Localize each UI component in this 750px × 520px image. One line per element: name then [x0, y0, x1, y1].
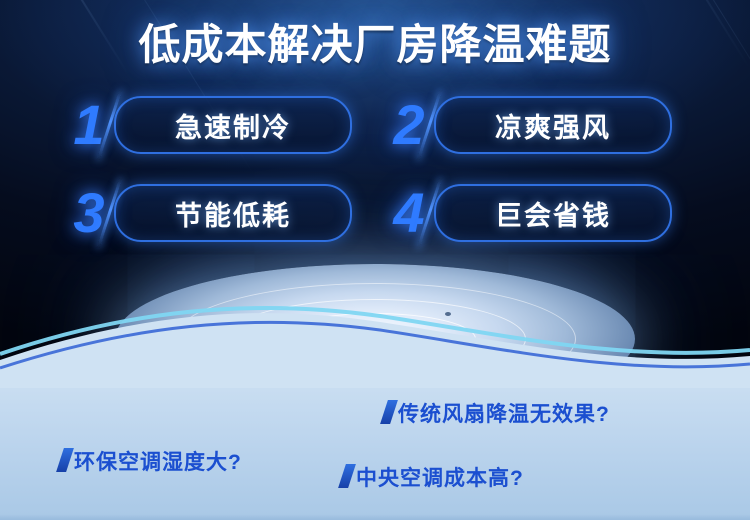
feature-number: 1	[56, 97, 122, 153]
feature-number: 4	[376, 185, 442, 241]
feature-number: 3	[56, 185, 122, 241]
feature-item-1[interactable]: 1 急速制冷	[56, 86, 352, 164]
question-text: 传统风扇降温无效果?	[398, 403, 610, 426]
feature-list: 1 急速制冷 2 凉爽强风 3 节能低耗 4 巨会省钱	[56, 86, 696, 262]
question-text: 中央空调成本高?	[356, 467, 524, 490]
headline: 低成本解决厂房降温难题	[0, 18, 750, 72]
feature-label: 急速制冷	[114, 96, 352, 154]
feature-label: 巨会省钱	[434, 184, 672, 242]
wave-divider-icon	[0, 298, 750, 388]
feature-label: 凉爽强风	[434, 96, 672, 154]
question-label-3: 中央空调成本高?	[356, 462, 524, 492]
question-label-1: 传统风扇降温无效果?	[398, 398, 610, 428]
feature-item-3[interactable]: 3 节能低耗	[56, 174, 352, 252]
promo-poster: 低成本解决厂房降温难题 1 急速制冷 2 凉爽强风 3 节能低耗 4 巨会省钱	[0, 0, 750, 520]
feature-item-2[interactable]: 2 凉爽强风	[376, 86, 672, 164]
question-label-2: 环保空调湿度大?	[74, 446, 242, 476]
feature-item-4[interactable]: 4 巨会省钱	[376, 174, 672, 252]
feature-number: 2	[376, 97, 442, 153]
feature-label: 节能低耗	[114, 184, 352, 242]
question-text: 环保空调湿度大?	[74, 451, 242, 474]
bottom-fade	[0, 514, 750, 520]
light-streak-icon	[377, 0, 484, 16]
